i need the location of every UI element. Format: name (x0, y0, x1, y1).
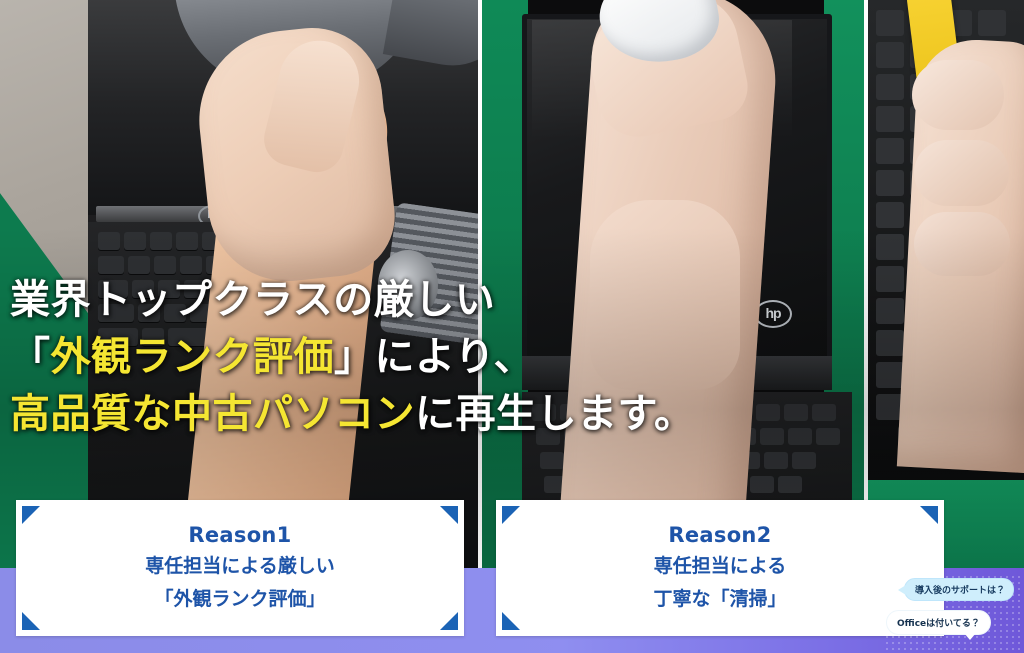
reason-card-2-subtitle-line-2: 丁寧な「清掃」 (496, 585, 944, 614)
gloved-finger (912, 60, 1004, 130)
headline-highlight-quality-pc: 高品質な中古パソコン (10, 391, 415, 437)
headline-quote-close: 」により、 (334, 334, 534, 380)
gloved-finger (914, 212, 1010, 276)
photo-3-scene (868, 0, 1024, 568)
reason-card-1[interactable]: Reason1 専任担当による厳しい 「外観ランク評価」 (16, 500, 464, 636)
corner-triangle-bottom-left-icon (502, 612, 520, 630)
headline-line-3: 高品質な中古パソコンに再生します。 (10, 386, 710, 443)
photo-panel-3 (868, 0, 1024, 568)
reason-card-1-title: Reason1 (16, 522, 464, 549)
chat-bubble-office[interactable]: Officeは付いてる？ (886, 610, 991, 635)
chat-bubble-group: 導入後のサポートは？ Officeは付いてる？ (884, 574, 1024, 650)
reason-card-1-subtitle-line-2: 「外観ランク評価」 (16, 585, 464, 614)
reason-card-2-subtitle-line-1: 専任担当による (496, 552, 944, 581)
reason-card-1-subtitle-line-1: 専任担当による厳しい (16, 552, 464, 581)
headline-line-3-rest: に再生します。 (415, 391, 695, 437)
reason-card-1-content: Reason1 専任担当による厳しい 「外観ランク評価」 (16, 522, 464, 614)
headline-line-2: 「外観ランク評価」により、 (10, 329, 710, 386)
headline-quote-open: 「 (10, 334, 51, 380)
chat-bubble-support[interactable]: 導入後のサポートは？ (904, 578, 1014, 601)
reason-card-2-content: Reason2 専任担当による 丁寧な「清掃」 (496, 522, 944, 614)
headline-line-1-text: 業界トップクラスの厳しい (10, 277, 495, 323)
headline-highlight-appearance-rank: 外観ランク評価 (51, 334, 335, 380)
corner-triangle-bottom-right-icon (440, 612, 458, 630)
reason-card-2-title: Reason2 (496, 522, 944, 549)
headline-line-1: 業界トップクラスの厳しい (10, 272, 710, 329)
gloved-finger (914, 140, 1009, 206)
headline: 業界トップクラスの厳しい 「外観ランク評価」により、 高品質な中古パソコンに再生… (10, 272, 710, 442)
corner-triangle-bottom-left-icon (22, 612, 40, 630)
reason-card-2[interactable]: Reason2 専任担当による 丁寧な「清掃」 (496, 500, 944, 636)
panel-divider-2 (864, 0, 868, 568)
promo-banner: hp (0, 0, 1024, 653)
